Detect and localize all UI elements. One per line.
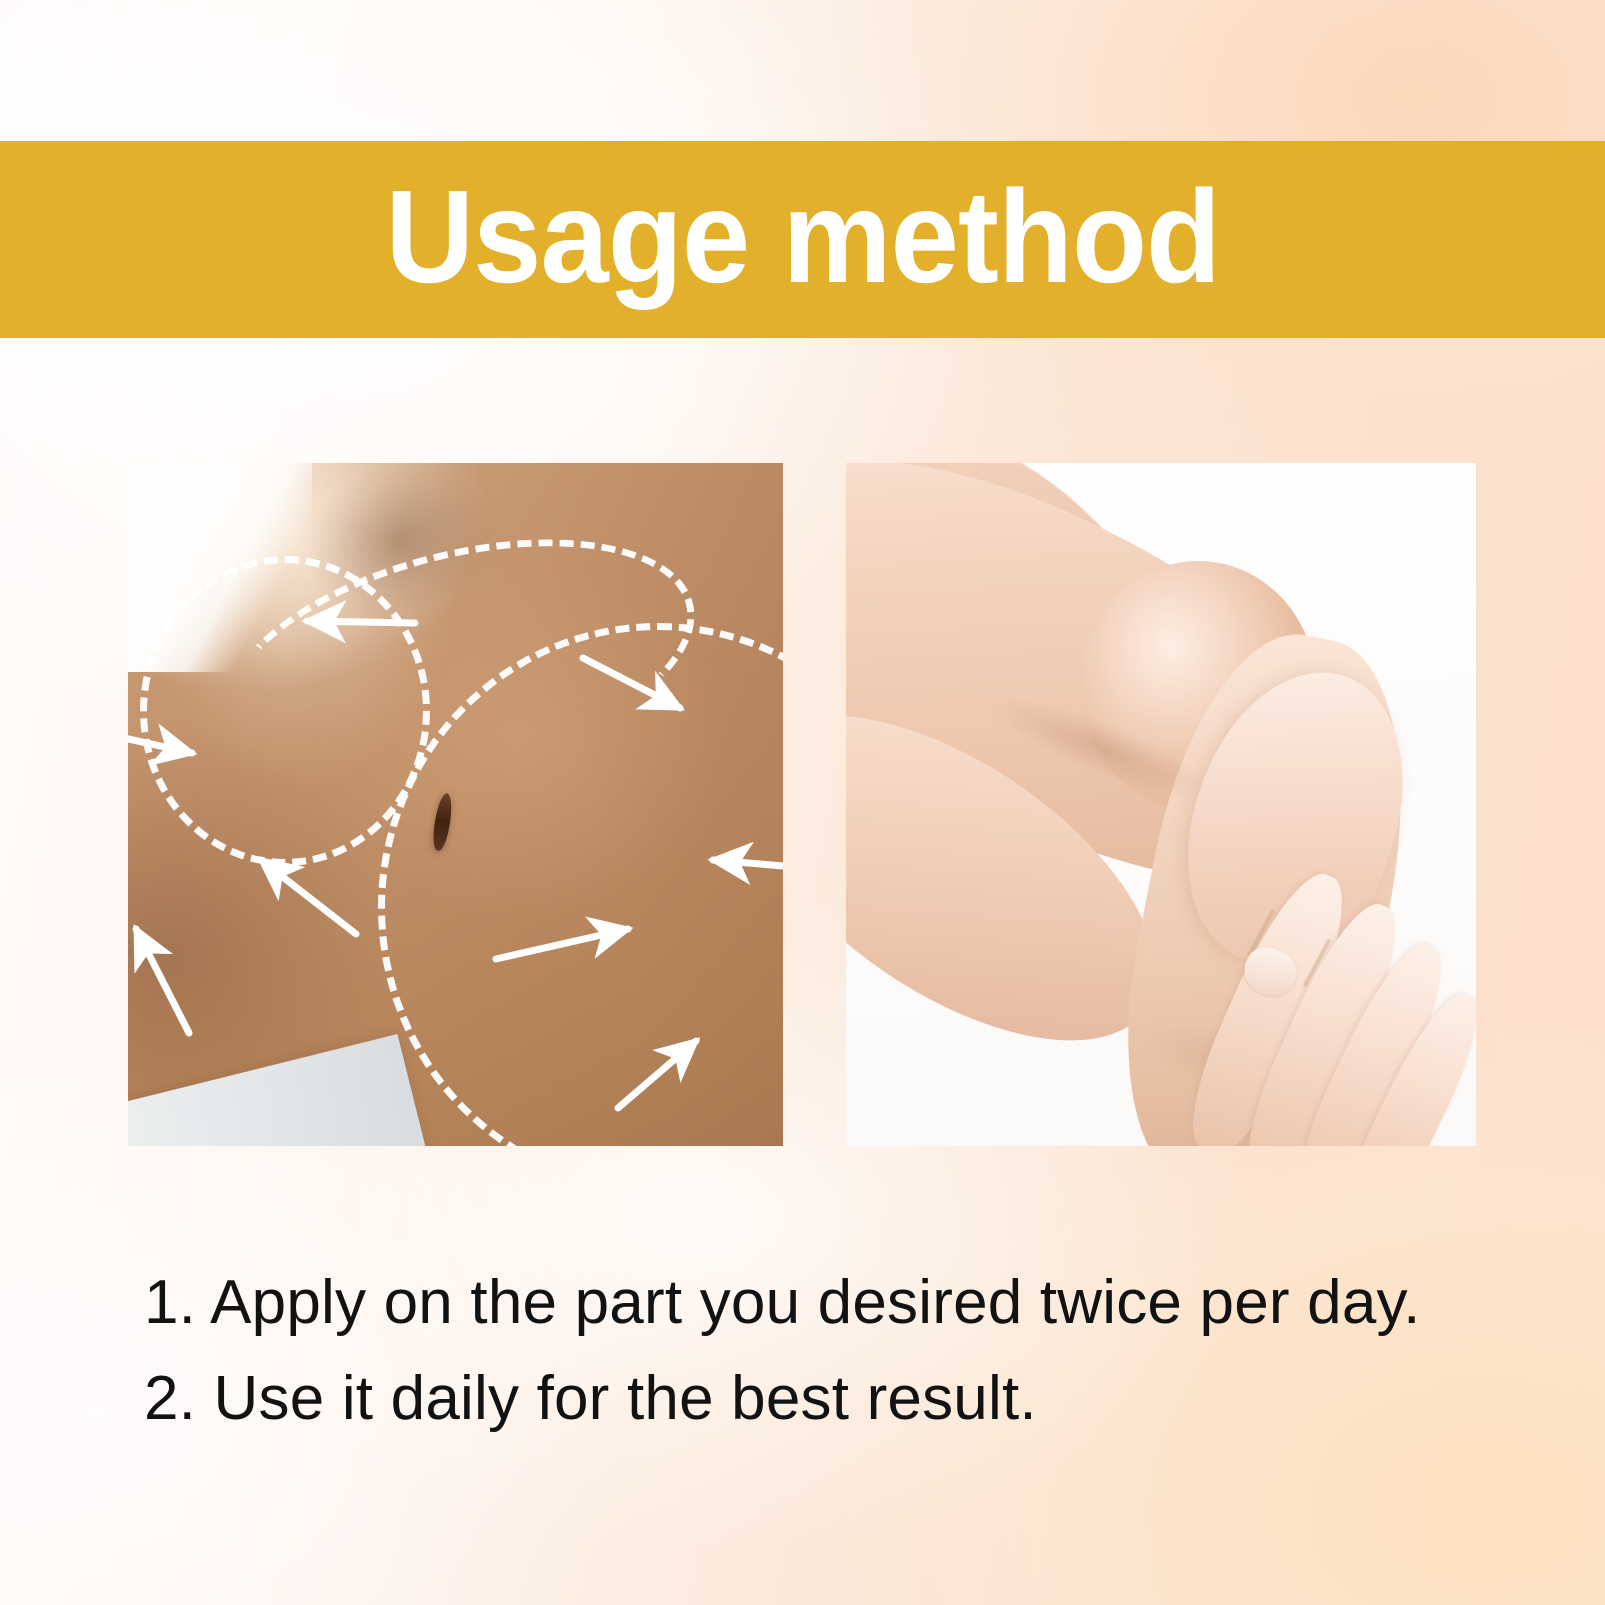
arrow-bottom-left-rise [136,929,189,1033]
arrow-left-in [128,738,192,753]
usage-instructions-list: 1. Apply on the part you desired twice p… [144,1255,1484,1447]
page-title: Usage method [385,171,1220,303]
massage-direction-arrows [128,463,783,1146]
infographic-canvas: Usage method [0,0,1605,1605]
legs-photo-background [846,463,1476,1146]
arrow-top-right [583,658,680,708]
abdomen-massage-photo [128,463,783,1146]
arrow-right-in [713,860,783,866]
legs-massage-photo [846,463,1476,1146]
arrow-top-left [307,621,415,623]
instruction-item-2: 2. Use it daily for the best result. [144,1351,1484,1447]
instruction-item-1: 1. Apply on the part you desired twice p… [144,1255,1484,1351]
photo-gallery [128,463,1476,1146]
title-banner: Usage method [0,141,1605,338]
arrow-bottom-right-rise [618,1041,696,1108]
arrow-lower-left-diagonal [261,860,356,934]
arrow-mid-right [496,929,628,959]
